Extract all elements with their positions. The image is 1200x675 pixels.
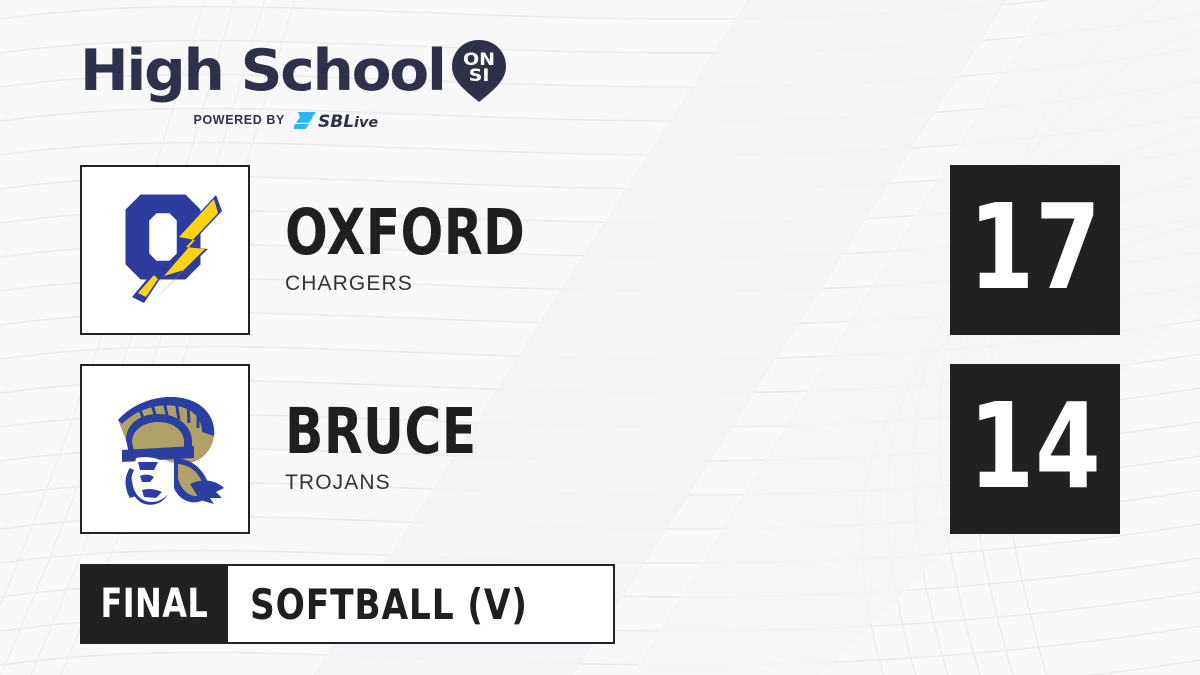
team-score-box: 17 [950, 165, 1120, 335]
onsi-pin-line2: SI [468, 66, 489, 86]
brand-row: High School ON SI [80, 38, 508, 104]
team-logo-box[interactable] [80, 165, 250, 335]
team-mascot: TROJANS [285, 471, 885, 495]
bruce-trojans-logo-icon [82, 366, 248, 532]
brand-logo: High School ON SI POWERED BY SBL ive [80, 38, 508, 129]
team-score: 14 [969, 387, 1102, 505]
status-badge: FINAL [80, 564, 228, 644]
oxford-chargers-logo-icon [82, 167, 248, 333]
game-status-bar: FINAL SOFTBALL (V) [80, 564, 615, 644]
powered-by-row: POWERED BY SBL ive [80, 111, 508, 129]
team-text-block: BRUCE TROJANS [285, 364, 885, 534]
team-score-box: 14 [950, 364, 1120, 534]
team-name: OXFORD [285, 204, 765, 263]
powered-by-label: POWERED BY [194, 113, 285, 127]
team-score: 17 [969, 188, 1102, 306]
sport-badge: SOFTBALL (V) [228, 564, 615, 644]
team-text-block: OXFORD CHARGERS [285, 165, 885, 335]
status-label: FINAL [100, 581, 208, 627]
sblive-logo: SBL ive [294, 111, 394, 130]
sport-label: SOFTBALL (V) [250, 580, 528, 629]
team-name: BRUCE [285, 403, 765, 462]
onsi-pin-icon: ON SI [450, 38, 508, 104]
brand-wordmark: High School [80, 43, 445, 100]
team-logo-box[interactable] [80, 364, 250, 534]
sblive-wordmark-suffix: ive [354, 115, 378, 130]
sblive-wordmark: SBL [318, 112, 354, 130]
team-mascot: CHARGERS [285, 272, 885, 296]
